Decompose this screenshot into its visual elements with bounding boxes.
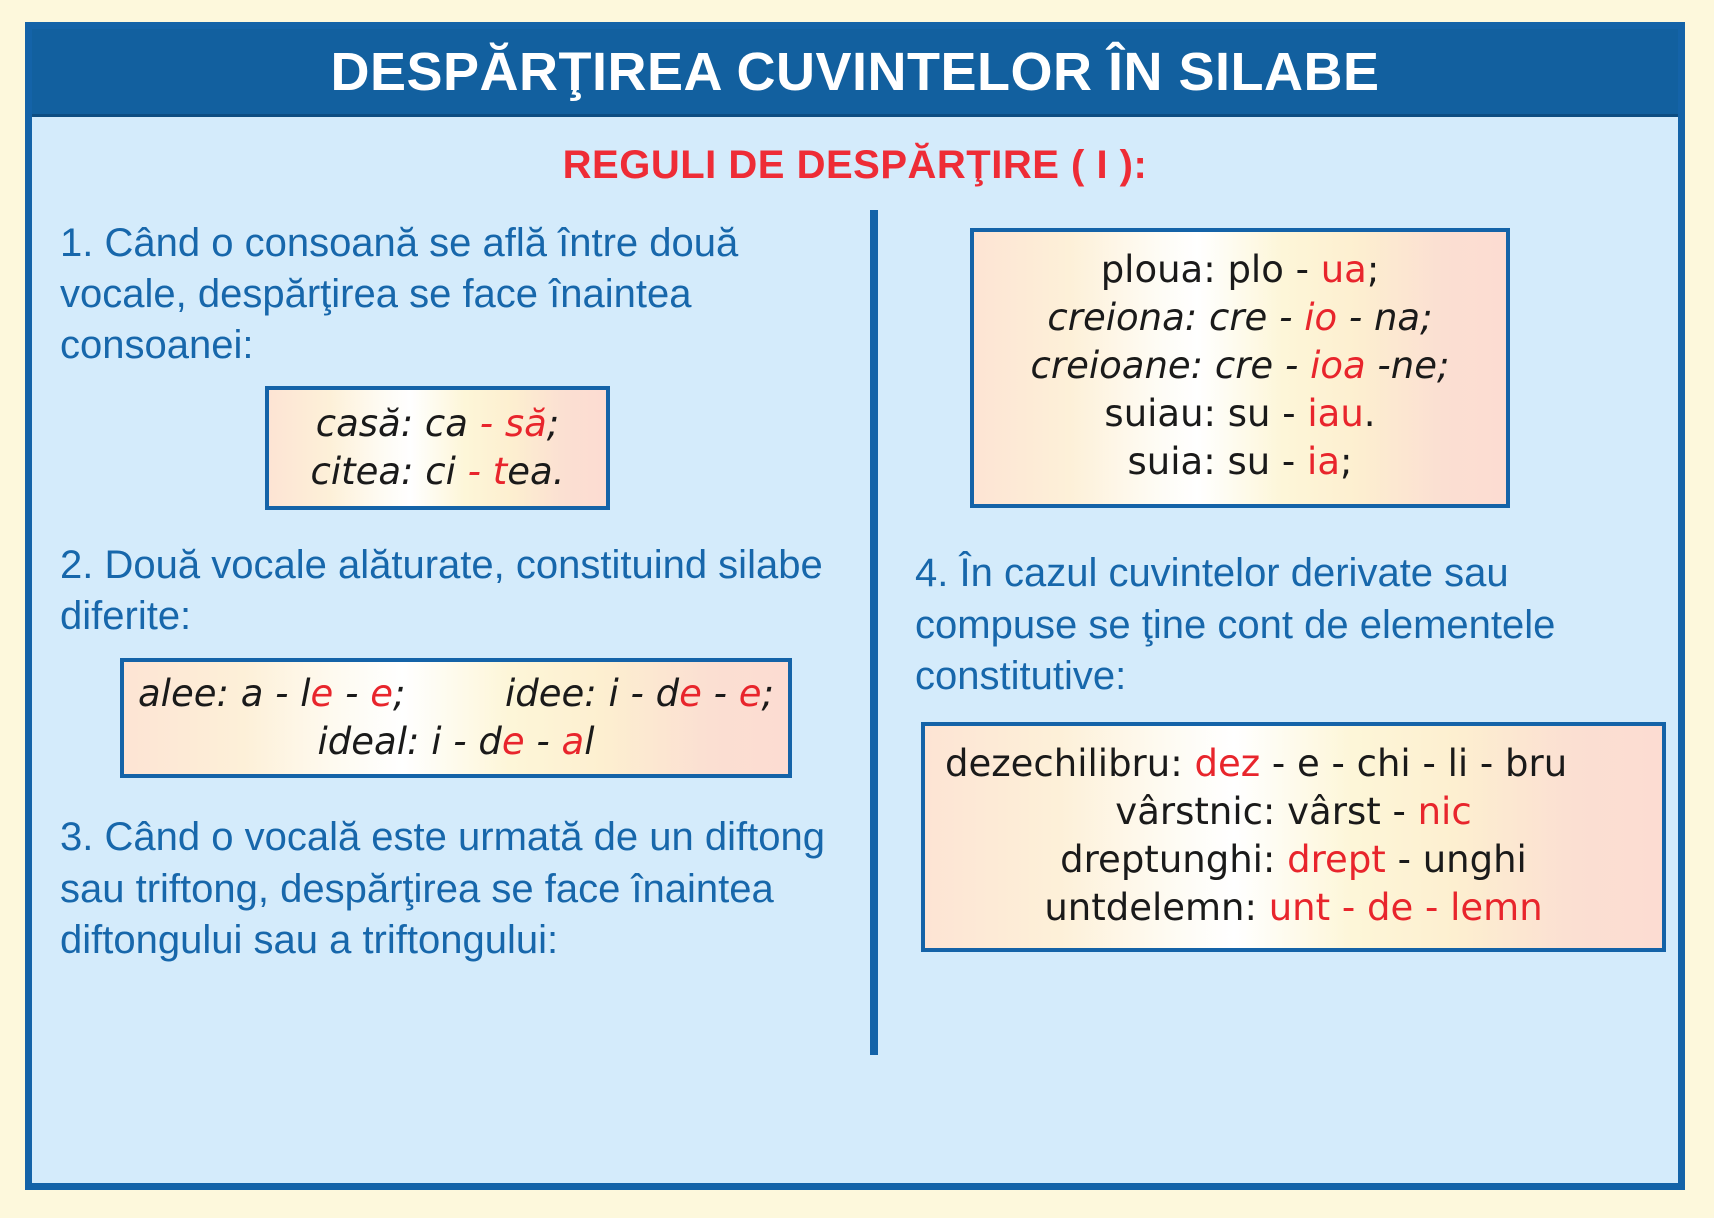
example-highlight: - t [468, 450, 508, 493]
example-sep: - [333, 672, 370, 715]
example-box-1: casă: ca - să; citea: ci - tea. [265, 386, 610, 510]
example-tail: -ne; [1366, 344, 1450, 387]
example-alee: alee: a - le - e; [138, 670, 405, 718]
example-idee: idee: i - de - e; [505, 670, 774, 718]
example-sep: - [525, 720, 562, 763]
example-line: suia: su - ia; [1000, 438, 1480, 486]
page-title: DESPĂRŢIREA CUVINTELOR ÎN SILABE [330, 45, 1379, 99]
example-tail: l [584, 720, 594, 763]
example-line: dezechilibru: dez - e - chi - li - bru [945, 740, 1642, 788]
example-word: alee: a - l [138, 672, 311, 715]
example-tail: - unghi [1386, 838, 1527, 881]
example-tail: ea. [507, 450, 564, 493]
example-word: idee: i - d [505, 672, 679, 715]
rule-2-text: 2. Două vocale alăturate, constituind si… [60, 540, 835, 642]
example-line: vârstnic: vârst - nic [945, 788, 1642, 836]
example-tail: ; [393, 672, 405, 715]
example-line: ploua: plo - ua; [1000, 246, 1480, 294]
example-line: alee: a - le - e; idee: i - de - e; [138, 670, 774, 718]
example-tail: - e - chi - li - bru [1260, 742, 1567, 785]
column-divider [870, 210, 878, 1055]
example-line: suiau: su - iau. [1000, 390, 1480, 438]
example-tail: ; [762, 672, 774, 715]
example-highlight: nic [1418, 790, 1472, 833]
example-highlight: dez [1194, 742, 1260, 785]
example-sep: - [702, 672, 739, 715]
rule-3-text: 3. Când o vocală este urmată de un difto… [60, 812, 835, 966]
example-word: dezechilibru: [945, 742, 1194, 785]
example-highlight: unt - de - lemn [1269, 886, 1543, 929]
example-word: citea: ci [310, 450, 467, 493]
example-tail: - na; [1337, 296, 1432, 339]
example-highlight: iau [1307, 392, 1363, 435]
example-word: creioane: cre - [1031, 344, 1311, 387]
example-line: casă: ca - să; [287, 400, 588, 448]
example-highlight: io [1304, 296, 1337, 339]
example-highlight: - să [480, 402, 547, 445]
example-word: casă: ca [316, 402, 480, 445]
example-highlight: drept [1287, 838, 1386, 881]
example-line: dreptunghi: drept - unghi [945, 836, 1642, 884]
example-word: dreptunghi: [1060, 838, 1287, 881]
example-highlight: e [679, 672, 702, 715]
example-tail: ; [547, 402, 559, 445]
example-box-2: alee: a - le - e; idee: i - de - e; idea… [120, 658, 792, 778]
example-word: creiona: cre - [1047, 296, 1304, 339]
example-highlight: e [311, 672, 334, 715]
example-box-4: dezechilibru: dez - e - chi - li - bru v… [921, 722, 1666, 952]
example-tail: ; [1340, 440, 1352, 483]
example-line: creioane: cre - ioa -ne; [1000, 342, 1480, 390]
example-highlight: e [370, 672, 393, 715]
example-tail: . [1364, 392, 1376, 435]
example-highlight: e [739, 672, 762, 715]
example-line: citea: ci - tea. [287, 448, 588, 496]
example-line: creiona: cre - io - na; [1000, 294, 1480, 342]
example-highlight: ua [1321, 248, 1367, 291]
right-column: ploua: plo - ua; creiona: cre - io - na;… [859, 210, 1666, 1080]
example-highlight: ia [1307, 440, 1340, 483]
example-line: ideal: i - de - al [138, 718, 774, 766]
content-columns: 1. Când o consoană se află între două vo… [32, 210, 1678, 1080]
example-word: vârstnic: vârst - [1115, 790, 1417, 833]
example-highlight: a [562, 720, 585, 763]
example-box-3: ploua: plo - ua; creiona: cre - io - na;… [970, 228, 1510, 508]
example-word: ploua: plo - [1101, 248, 1321, 291]
example-word: suiau: su - [1104, 392, 1307, 435]
example-highlight: e [502, 720, 525, 763]
example-line: untdelemn: unt - de - lemn [945, 884, 1642, 932]
example-word: ideal: i - d [318, 720, 502, 763]
example-highlight: ioa [1310, 344, 1366, 387]
title-bar: DESPĂRŢIREA CUVINTELOR ÎN SILABE [32, 29, 1678, 117]
left-column: 1. Când o consoană se află între două vo… [60, 210, 859, 1080]
example-word: untdelemn: [1044, 886, 1268, 929]
example-word: suia: su - [1128, 440, 1308, 483]
rule-1-text: 1. Când o consoană se află între două vo… [60, 218, 835, 372]
rule-4-text: 4. În cazul cuvintelor derivate sau comp… [915, 548, 1666, 702]
example-tail: ; [1367, 248, 1379, 291]
subtitle: REGULI DE DESPĂRŢIRE ( I ): [32, 143, 1678, 188]
poster-frame: DESPĂRŢIREA CUVINTELOR ÎN SILABE REGULI … [25, 22, 1685, 1190]
